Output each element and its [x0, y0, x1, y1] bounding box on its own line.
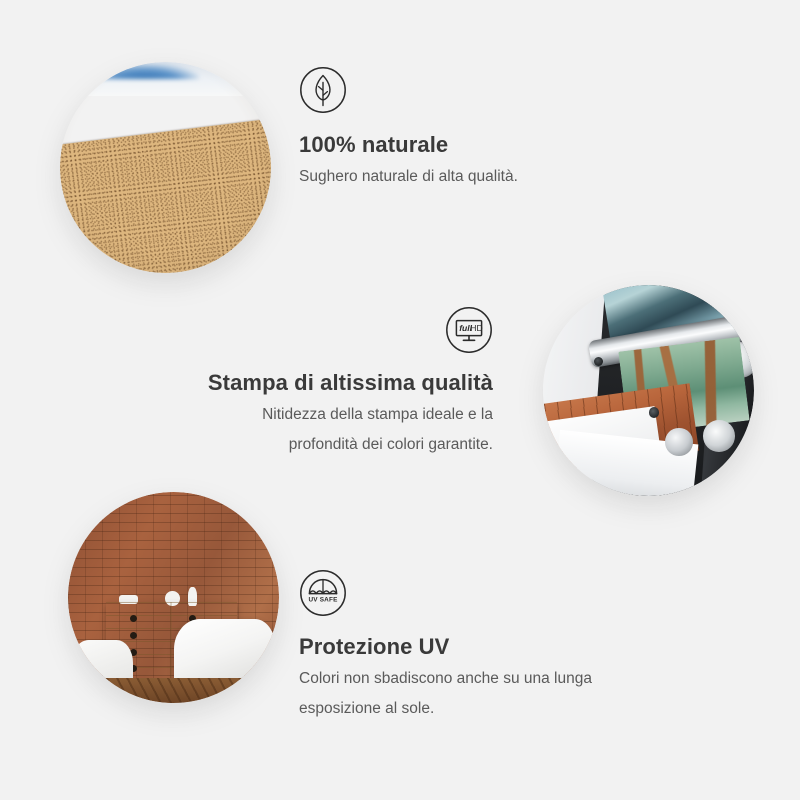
feature-headline-uv: Protezione UV: [299, 634, 592, 660]
fullhd-monitor-icon: full HD: [185, 306, 493, 354]
printing-machine-photo: [543, 285, 754, 496]
cork-board-closeup-photo: [60, 62, 271, 273]
feature-headline-print: Stampa di altissima qualità: [185, 370, 493, 396]
uv-safe-icon-text: UV SAFE: [308, 597, 338, 604]
cork-photo-vignette: [60, 62, 271, 273]
feature-subline-print-line1: Nitidezza della stampa ideale e la: [185, 405, 493, 426]
printer-photo-knob-right: [703, 420, 735, 452]
printer-photo-bolt-lower: [649, 407, 660, 418]
feature-subline-print-line2: profondità dei colori garantite.: [185, 435, 493, 456]
feature-subline-natural: Sughero naturale di alta qualità.: [299, 167, 518, 188]
infographic-canvas: 100% naturale Sughero naturale di alta q…: [0, 0, 800, 800]
printer-photo-knob-left: [665, 428, 692, 455]
uv-safe-umbrella-icon: UV SAFE: [299, 569, 592, 617]
feature-headline-natural: 100% naturale: [299, 132, 518, 158]
feature-subline-uv-line1: Colori non sbadiscono anche su una lunga: [299, 669, 592, 690]
feature-block-uv: UV SAFE Protezione UV Colori non sbadisc…: [299, 569, 592, 720]
interior-photo-herringbone-floor: [68, 678, 279, 703]
interior-world-map-photo: [68, 492, 279, 703]
feature-subline-uv-line2: esposizione al sole.: [299, 699, 592, 720]
leaf-icon: [299, 66, 518, 114]
feature-block-print: full HD Stampa di altissima qualità Niti…: [185, 306, 493, 456]
fullhd-icon-text-hd: HD: [470, 323, 482, 333]
feature-block-natural: 100% naturale Sughero naturale di alta q…: [299, 66, 518, 188]
